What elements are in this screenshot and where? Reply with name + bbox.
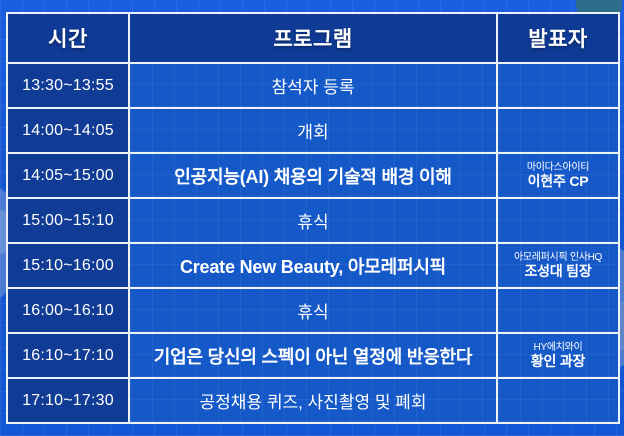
cell-time: 14:00~14:05 bbox=[7, 108, 129, 153]
table-header: 시간 프로그램 발표자 bbox=[7, 13, 619, 63]
cell-program: 개회 bbox=[129, 108, 497, 153]
cell-speaker bbox=[497, 288, 619, 333]
speaker-name: 조성대 팀장 bbox=[498, 263, 618, 279]
speaker-name: 황인 과장 bbox=[498, 353, 618, 369]
table-row: 14:05~15:00인공지능(AI) 채용의 기술적 배경 이해마이다스아이티… bbox=[7, 153, 619, 198]
cell-program: Create New Beauty, 아모레퍼시픽 bbox=[129, 243, 497, 288]
cell-time: 16:10~17:10 bbox=[7, 333, 129, 378]
cell-program: 휴식 bbox=[129, 288, 497, 333]
cell-time: 16:00~16:10 bbox=[7, 288, 129, 333]
table-body: 13:30~13:55참석자 등록14:00~14:05개회14:05~15:0… bbox=[7, 63, 619, 423]
column-header-speaker: 발표자 bbox=[497, 13, 619, 63]
cell-time: 17:10~17:30 bbox=[7, 378, 129, 423]
cell-program: 기업은 당신의 스펙이 아닌 열정에 반응한다 bbox=[129, 333, 497, 378]
cell-program: 참석자 등록 bbox=[129, 63, 497, 108]
cell-speaker: HY에치와이황인 과장 bbox=[497, 333, 619, 378]
cell-speaker bbox=[497, 378, 619, 423]
column-header-program: 프로그램 bbox=[129, 13, 497, 63]
speaker-organization: 마이다스아이티 bbox=[498, 162, 618, 174]
cell-time: 13:30~13:55 bbox=[7, 63, 129, 108]
speaker-organization: HY에치와이 bbox=[498, 342, 618, 354]
cell-program: 공정채용 퀴즈, 사진촬영 및 폐회 bbox=[129, 378, 497, 423]
cell-speaker bbox=[497, 198, 619, 243]
cell-time: 14:05~15:00 bbox=[7, 153, 129, 198]
cell-speaker bbox=[497, 108, 619, 153]
cell-speaker bbox=[497, 63, 619, 108]
cell-speaker: 마이다스아이티이현주 CP bbox=[497, 153, 619, 198]
table-row: 15:10~16:00Create New Beauty, 아모레퍼시픽아모레퍼… bbox=[7, 243, 619, 288]
table-header-row: 시간 프로그램 발표자 bbox=[7, 13, 619, 63]
cell-speaker: 아모레퍼시픽 인사HQ조성대 팀장 bbox=[497, 243, 619, 288]
speaker-organization: 아모레퍼시픽 인사HQ bbox=[498, 252, 618, 264]
table-row: 13:30~13:55참석자 등록 bbox=[7, 63, 619, 108]
schedule-table: 시간 프로그램 발표자 13:30~13:55참석자 등록14:00~14:05… bbox=[6, 12, 620, 424]
table-row: 14:00~14:05개회 bbox=[7, 108, 619, 153]
cell-program: 인공지능(AI) 채용의 기술적 배경 이해 bbox=[129, 153, 497, 198]
cell-program: 휴식 bbox=[129, 198, 497, 243]
table-row: 16:00~16:10휴식 bbox=[7, 288, 619, 333]
table-row: 17:10~17:30공정채용 퀴즈, 사진촬영 및 폐회 bbox=[7, 378, 619, 423]
cell-time: 15:10~16:00 bbox=[7, 243, 129, 288]
poster-background: 시간 프로그램 발표자 13:30~13:55참석자 등록14:00~14:05… bbox=[0, 0, 624, 436]
column-header-time: 시간 bbox=[7, 13, 129, 63]
cell-time: 15:00~15:10 bbox=[7, 198, 129, 243]
speaker-name: 이현주 CP bbox=[498, 173, 618, 189]
table-row: 15:00~15:10휴식 bbox=[7, 198, 619, 243]
table-row: 16:10~17:10기업은 당신의 스펙이 아닌 열정에 반응한다HY에치와이… bbox=[7, 333, 619, 378]
